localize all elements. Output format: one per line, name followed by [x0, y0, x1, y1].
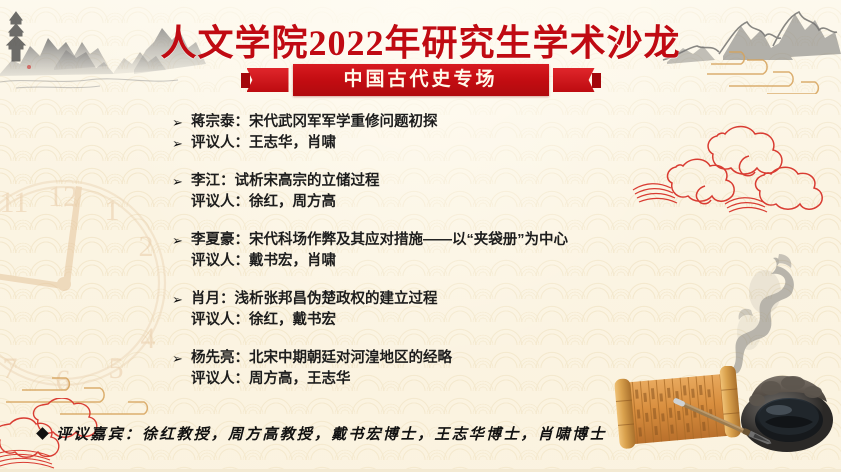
- ribbon-tab-right: [592, 73, 601, 88]
- footer-guests: 评议嘉宾：徐红教授，周方高教授，戴书宏博士，王志华博士，肖啸博士: [38, 423, 606, 444]
- reviewer-text: 评议人：周方高，王志华: [191, 369, 351, 390]
- arrow-bullet-icon: ➢: [172, 112, 191, 133]
- reviewer-line: ➢ 评议人：徐红，戴书宏: [172, 310, 692, 331]
- section-banner: 中国古代史专场: [293, 64, 549, 96]
- presenter-text: 杨先亮：北宋中期朝廷对河湟地区的经略: [191, 348, 452, 369]
- presenter-text: 李夏豪：宋代科场作弊及其应对措施——以“夹袋册”为中心: [191, 230, 568, 251]
- reviewer-text: 评议人：徐红，周方高: [191, 192, 336, 213]
- agenda-entry: ➢ 李夏豪：宋代科场作弊及其应对措施——以“夹袋册”为中心 ➢ 评议人：戴书宏，…: [172, 230, 692, 272]
- reviewer-line: ➢ 评议人：戴书宏，肖啸: [172, 251, 692, 272]
- reviewer-line: ➢ 评议人：徐红，周方高: [172, 192, 692, 213]
- arrow-bullet-icon: ➢: [172, 289, 191, 310]
- ink-dragon-icon: [721, 248, 807, 380]
- agenda-entry: ➢ 蒋宗泰：宋代武冈军军学重修问题初探 ➢ 评议人：王志华，肖啸: [172, 112, 692, 154]
- presenter-line: ➢ 李夏豪：宋代科场作弊及其应对措施——以“夹袋册”为中心: [172, 230, 692, 251]
- arrow-bullet-icon: ➢: [172, 348, 191, 369]
- diamond-bullet-icon: [36, 427, 49, 440]
- agenda-entry: ➢ 李江：试析宋高宗的立储过程 ➢ 评议人：徐红，周方高: [172, 171, 692, 213]
- section-banner-label: 中国古代史专场: [293, 64, 549, 96]
- footer-guests-text: 评议嘉宾：徐红教授，周方高教授，戴书宏博士，王志华博士，肖啸博士: [56, 423, 606, 444]
- arrow-bullet-icon: ➢: [172, 133, 191, 154]
- presenter-text: 李江：试析宋高宗的立储过程: [191, 171, 380, 192]
- arrow-bullet-icon: ➢: [172, 171, 191, 192]
- ribbon-tab-left: [241, 73, 250, 88]
- arrow-bullet-icon: ➢: [172, 230, 191, 251]
- presentation-slide: 12 1 2 4 5 6 7 8 9 10 11: [0, 0, 841, 472]
- presenter-text: 蒋宗泰：宋代武冈军军学重修问题初探: [191, 112, 438, 133]
- banner-container: 中国古代史专场: [0, 62, 841, 102]
- slide-title: 人文学院2022年研究生学术沙龙: [0, 14, 841, 66]
- agenda-list: ➢ 蒋宗泰：宋代武冈军军学重修问题初探 ➢ 评议人：王志华，肖啸 ➢ 李江：试析…: [172, 112, 692, 390]
- presenter-line: ➢ 肖月：浅析张邦昌伪楚政权的建立过程: [172, 289, 692, 310]
- reviewer-text: 评议人：徐红，戴书宏: [191, 310, 336, 331]
- reviewer-text: 评议人：戴书宏，肖啸: [191, 251, 336, 272]
- presenter-line: ➢ 蒋宗泰：宋代武冈军军学重修问题初探: [172, 112, 692, 133]
- calligraphy-brush-icon: [669, 394, 779, 450]
- reviewer-line: ➢ 评议人：王志华，肖啸: [172, 133, 692, 154]
- agenda-entry: ➢ 肖月：浅析张邦昌伪楚政权的建立过程 ➢ 评议人：徐红，戴书宏: [172, 289, 692, 331]
- presenter-text: 肖月：浅析张邦昌伪楚政权的建立过程: [191, 289, 438, 310]
- presenter-line: ➢ 李江：试析宋高宗的立储过程: [172, 171, 692, 192]
- reviewer-text: 评议人：王志华，肖啸: [191, 133, 336, 154]
